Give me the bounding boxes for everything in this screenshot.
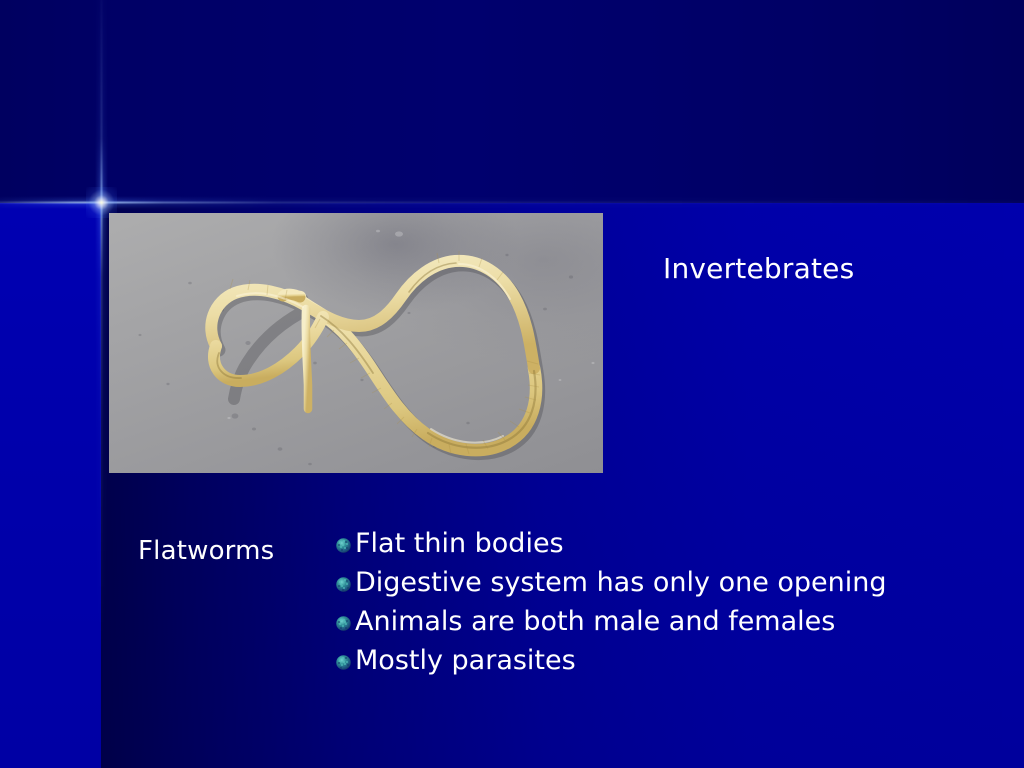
list-item: Digestive system has only one opening [336, 566, 996, 605]
list-item-label: Flat thin bodies [355, 527, 996, 560]
sphere-bullet-icon [336, 655, 351, 670]
sphere-bullet-icon [336, 577, 351, 592]
vertical-light-ray [95, 0, 108, 768]
horizontal-light-ray [0, 196, 1024, 209]
bullet-list: Flat thin bodies Digestive syst [336, 527, 996, 683]
background-left-column [0, 203, 101, 768]
tapeworm-specimen [109, 213, 603, 473]
list-item: Flat thin bodies [336, 527, 996, 566]
subject-label: Flatworms [138, 535, 274, 567]
slide-canvas: Invertebrates Flatworms [0, 0, 1024, 768]
list-item: Animals are both male and females [336, 605, 996, 644]
list-item-label: Mostly parasites [355, 644, 996, 677]
sphere-bullet-icon [336, 616, 351, 631]
sphere-bullet-icon [336, 538, 351, 553]
page-title: Invertebrates [663, 252, 854, 286]
list-item-label: Animals are both male and females [355, 605, 996, 638]
tapeworm-photograph [109, 213, 603, 473]
background-upper-band [0, 0, 1024, 203]
list-item-label: Digestive system has only one opening [355, 566, 996, 599]
list-item: Mostly parasites [336, 644, 996, 683]
